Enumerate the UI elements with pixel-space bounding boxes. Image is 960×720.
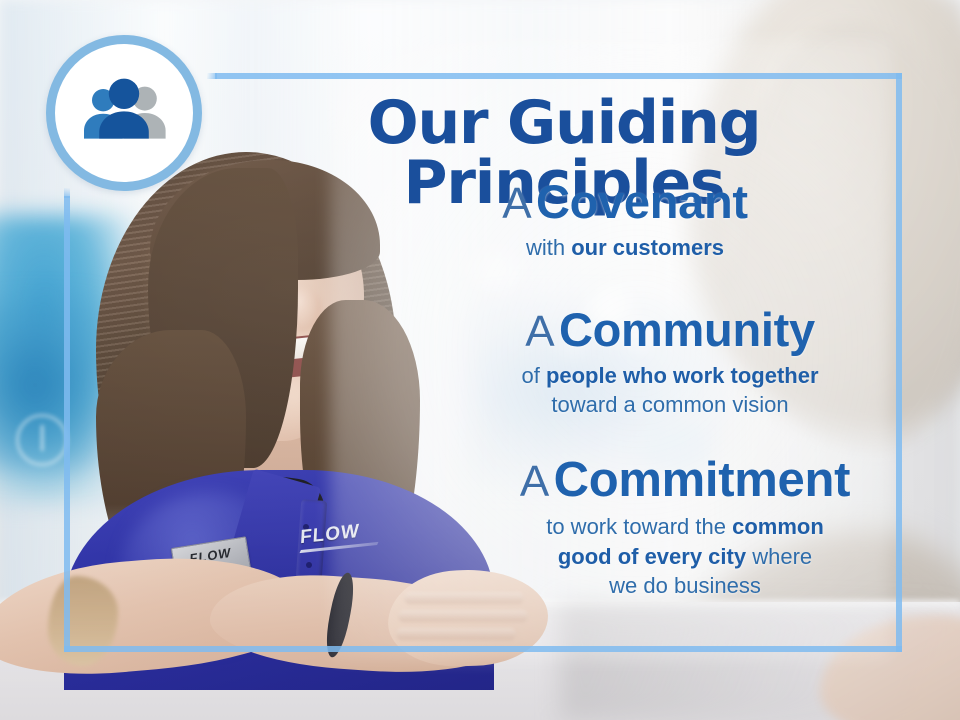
principle-subtext: with our customers bbox=[410, 233, 840, 262]
principle-subtext: of people who work together toward a com… bbox=[450, 361, 890, 419]
principle-title: A Community bbox=[450, 306, 890, 355]
principle-covenant: A Covenant with our customers bbox=[410, 178, 840, 262]
principle-commitment: A Commitment to work toward the common g… bbox=[460, 456, 910, 601]
principle-subtext-line: we do business bbox=[460, 571, 910, 601]
principle-word: Covenant bbox=[536, 175, 748, 228]
principle-subtext-line: of people who work together bbox=[450, 361, 890, 390]
principle-subtext-line: with our customers bbox=[410, 233, 840, 262]
principle-word: Commitment bbox=[554, 453, 850, 507]
people-group-icon bbox=[76, 74, 172, 152]
principle-subtext-line: to work toward the common bbox=[460, 512, 910, 542]
principle-subtext-line: toward a common vision bbox=[450, 390, 890, 419]
principle-article: A bbox=[502, 179, 531, 228]
people-badge-circle bbox=[46, 35, 202, 191]
principle-title: A Commitment bbox=[460, 456, 910, 506]
guiding-principles-poster: FLOW AUTOMOTIVE FLOW bbox=[0, 0, 960, 720]
principle-article: A bbox=[525, 307, 554, 356]
principle-community: A Community of people who work together … bbox=[450, 306, 890, 419]
employee-finger bbox=[398, 610, 528, 622]
shirt-button bbox=[306, 562, 312, 568]
principle-title: A Covenant bbox=[410, 178, 840, 227]
employee-finger bbox=[396, 628, 516, 640]
principle-word: Community bbox=[559, 303, 815, 356]
principle-subtext-line: good of every city where bbox=[460, 542, 910, 572]
principle-subtext: to work toward the common good of every … bbox=[460, 512, 910, 601]
principle-article: A bbox=[520, 457, 549, 506]
